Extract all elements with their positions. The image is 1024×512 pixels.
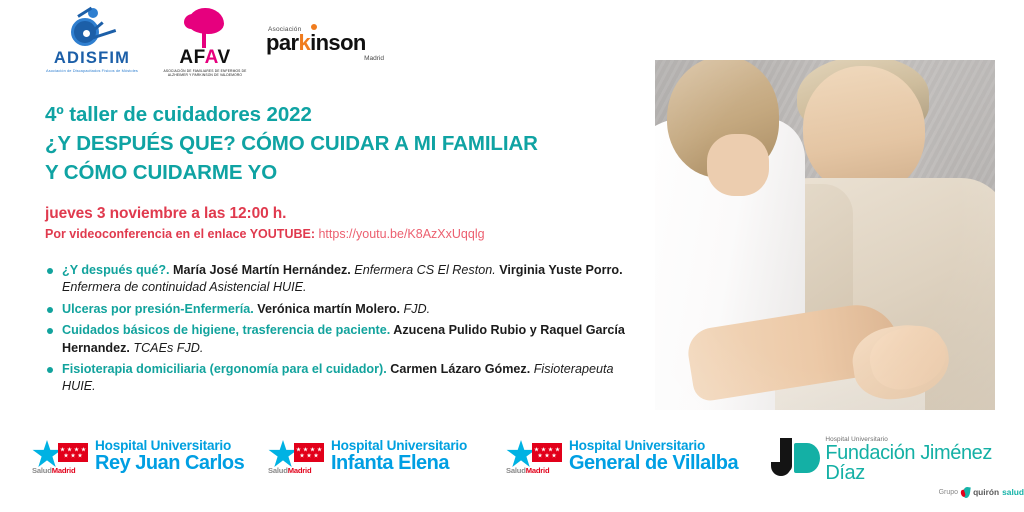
program-speaker: María José Martín Hernández.	[170, 263, 351, 277]
title-line-2: ¿Y DESPUÉS QUE? CÓMO CUIDAR A MI FAMILIA…	[45, 129, 645, 158]
madrid-flag-icon	[294, 443, 324, 462]
logo-parkinson-madrid: Asociación parkinson Madrid	[266, 8, 384, 62]
fjd-group: Grupo quirónsalud	[825, 487, 1024, 498]
program-topic: Ulceras por presión-Enfermería.	[62, 302, 254, 316]
salud-madrid-caption: SaludMadrid	[506, 466, 549, 475]
program-role: Enfermera CS El Reston.	[351, 263, 496, 277]
title-line-3: Y CÓMO CUIDARME YO	[45, 158, 645, 187]
tree-icon	[182, 8, 228, 48]
hospital-line-1: Hospital Universitario	[331, 439, 467, 453]
caregiver-photo	[655, 60, 995, 410]
program-role-2: Enfermera de continuidad Asistencial HUI…	[62, 280, 307, 294]
salud-madrid-caption: SaludMadrid	[268, 466, 311, 475]
logo-adisfim-word: ADISFIM	[54, 50, 130, 67]
logo-hospital-infanta-elena: SaludMadrid Hospital Universitario Infan…	[268, 438, 467, 474]
list-item: ¿Y después qué?. María José Martín Herná…	[45, 262, 645, 297]
hospital-line-1: Hospital Universitario	[569, 439, 738, 453]
hospital-line-1: Hospital Universitario	[95, 439, 244, 453]
list-item: Fisioterapia domiciliaria (ergonomía par…	[45, 361, 645, 396]
fjd-group-name-2: salud	[1002, 487, 1024, 497]
event-link-url[interactable]: https://youtu.be/K8AzXxUqqlg	[318, 227, 484, 241]
event-details: jueves 3 noviembre a las 12:00 h. Por vi…	[45, 202, 645, 244]
salud-madrid-icon: SaludMadrid	[268, 438, 324, 474]
partner-logos: ADISFIM Asociación de Discapacitados Fís…	[40, 8, 384, 80]
logo-afav-word-b: V	[217, 47, 230, 68]
logo-parkinson-word-post: inson	[310, 30, 366, 55]
logo-afav-word: AFAV	[179, 48, 230, 67]
program-topic: ¿Y después qué?.	[62, 263, 170, 277]
parkinson-figure-icon	[311, 24, 317, 30]
hospital-name: Hospital Universitario General de Villal…	[569, 439, 738, 473]
logo-adisfim: ADISFIM Asociación de Discapacitados Fís…	[40, 8, 144, 74]
title-line-1: 4º taller de cuidadores 2022	[45, 100, 645, 129]
salud-madrid-icon: SaludMadrid	[506, 438, 562, 474]
madrid-flag-icon	[58, 443, 88, 462]
event-date: jueves 3 noviembre a las 12:00 h.	[45, 202, 645, 225]
program-list: ¿Y después qué?. María José Martín Herná…	[45, 262, 645, 400]
logo-hospital-general-de-villalba: SaludMadrid Hospital Universitario Gener…	[506, 438, 738, 474]
logo-afav-word-a: AF	[179, 47, 204, 68]
fjd-group-name-1: quirón	[973, 487, 999, 497]
program-role: TCAEs FJD.	[130, 341, 203, 355]
fjd-name: Fundación Jiménez Díaz	[825, 443, 1024, 484]
quironsalud-leaf-icon	[961, 487, 970, 498]
logo-afav-word-pink: A	[205, 47, 218, 68]
wheelchair-icon	[61, 8, 123, 48]
salud-madrid-caption: SaludMadrid	[32, 466, 75, 475]
bullet-icon	[47, 328, 53, 334]
hospital-line-2: Infanta Elena	[331, 453, 467, 473]
event-link-label: Por videoconferencia en el enlace YOUTUB…	[45, 227, 315, 241]
program-topic: Fisioterapia domiciliaria (ergonomía par…	[62, 362, 387, 376]
logo-hospital-rey-juan-carlos: SaludMadrid Hospital Universitario Rey J…	[32, 438, 244, 474]
logo-parkinson-sub: Madrid	[266, 55, 384, 62]
fjd-text-block: Hospital Universitario Fundación Jiménez…	[825, 434, 1024, 498]
program-speaker: Verónica martín Molero.	[254, 302, 400, 316]
salud-madrid-icon: SaludMadrid	[32, 438, 88, 474]
hospital-line-2: Rey Juan Carlos	[95, 453, 244, 473]
list-item: Ulceras por presión-Enfermería. Verónica…	[45, 301, 645, 318]
page-title: 4º taller de cuidadores 2022 ¿Y DESPUÉS …	[45, 100, 645, 187]
footer-logos: SaludMadrid Hospital Universitario Rey J…	[0, 432, 1024, 494]
hospital-line-2: General de Villalba	[569, 453, 738, 473]
logo-parkinson-word-k: k	[298, 30, 310, 55]
logo-parkinson-word-pre: par	[266, 30, 298, 55]
logo-afav: AFAV ASOCIACIÓN DE FAMILIARES DE ENFERMO…	[162, 8, 248, 78]
hospital-name: Hospital Universitario Infanta Elena	[331, 439, 467, 473]
event-link: Por videoconferencia en el enlace YOUTUB…	[45, 225, 645, 244]
fjd-monogram-icon	[778, 438, 819, 480]
logo-parkinson-word: parkinson	[266, 32, 384, 54]
program-topic: Cuidados básicos de higiene, trasferenci…	[62, 323, 390, 337]
bullet-icon	[47, 367, 53, 373]
logo-fundacion-jimenez-diaz: Hospital Universitario Fundación Jiménez…	[778, 434, 1024, 498]
program-role: FJD.	[400, 302, 430, 316]
list-item: Cuidados básicos de higiene, trasferenci…	[45, 322, 645, 357]
logo-adisfim-subtitle: Asociación de Discapacitados Físicos de …	[46, 68, 138, 74]
madrid-flag-icon	[532, 443, 562, 462]
fjd-group-label: Grupo	[939, 489, 958, 496]
bullet-icon	[47, 307, 53, 313]
program-speaker-2: Virginia Yuste Porro.	[496, 263, 623, 277]
photo-vignette	[655, 60, 995, 410]
hospital-name: Hospital Universitario Rey Juan Carlos	[95, 439, 244, 473]
program-speaker: Carmen Lázaro Gómez.	[387, 362, 530, 376]
logo-afav-subtitle: ASOCIACIÓN DE FAMILIARES DE ENFERMOS DE …	[162, 69, 248, 79]
bullet-icon	[47, 268, 53, 274]
poster-canvas: ADISFIM Asociación de Discapacitados Fís…	[0, 0, 1024, 512]
